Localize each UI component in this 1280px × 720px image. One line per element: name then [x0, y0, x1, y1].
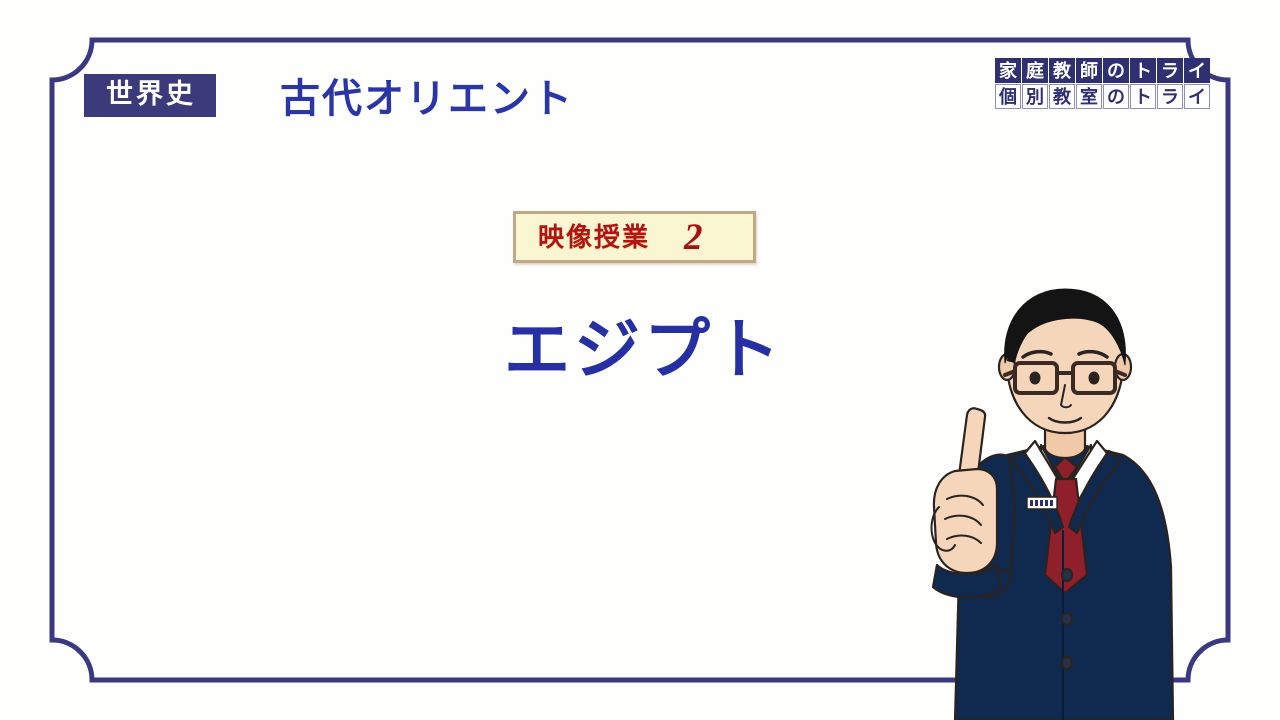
lesson-badge: 映像授業 2: [513, 211, 756, 263]
logo-char: 家: [995, 58, 1021, 83]
header: 世界史 古代オリエント: [84, 66, 574, 124]
logo-char: ト: [1130, 58, 1156, 83]
logo-char: イ: [1184, 58, 1210, 83]
logo-char: イ: [1184, 84, 1210, 109]
logo-char: 庭: [1022, 58, 1048, 83]
logo-char: ト: [1130, 84, 1156, 109]
logo-char: 教: [1049, 84, 1075, 109]
brand-logo-bottom-line: 個 別 教 室 の ト ラ イ: [995, 84, 1210, 109]
lesson-number: 2: [684, 219, 703, 256]
logo-char: の: [1103, 84, 1129, 109]
logo-char: ラ: [1157, 58, 1183, 83]
slide-canvas: 世界史 古代オリエント 家 庭 教 師 の ト ラ イ 個 別 教 室 の ト …: [0, 0, 1280, 720]
brand-logo: 家 庭 教 師 の ト ラ イ 個 別 教 室 の ト ラ イ: [995, 58, 1210, 109]
subject-badge: 世界史: [84, 74, 216, 117]
page-title: 古代オリエント: [280, 66, 574, 124]
brand-logo-top-line: 家 庭 教 師 の ト ラ イ: [995, 58, 1210, 83]
logo-char: ラ: [1157, 84, 1183, 109]
logo-char: 別: [1022, 84, 1048, 109]
logo-char: 師: [1076, 58, 1102, 83]
logo-char: 個: [995, 84, 1021, 109]
logo-char: 室: [1076, 84, 1102, 109]
lesson-label: 映像授業: [538, 224, 650, 250]
teacher-illustration: [915, 275, 1205, 720]
main-heading: エジプト: [504, 313, 784, 386]
logo-char: の: [1103, 58, 1129, 83]
logo-char: 教: [1049, 58, 1075, 83]
